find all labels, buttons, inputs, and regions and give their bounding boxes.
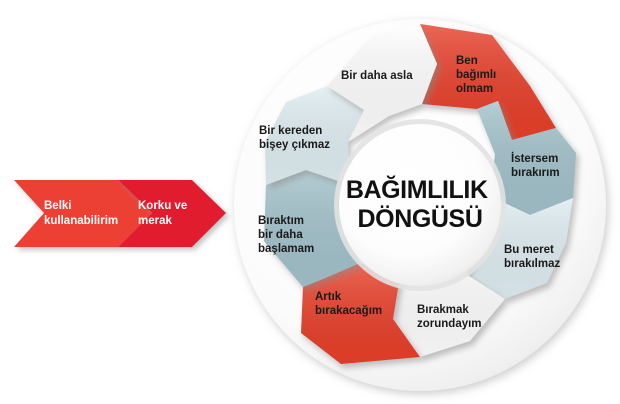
- segment-label: Bıraktım bir daha başlamam: [258, 215, 314, 255]
- diagram-canvas: Ben bağımlı olmam İstersem bırakırım Bu …: [0, 0, 620, 404]
- segment-label: Bir daha asla: [341, 70, 413, 82]
- addiction-cycle-diagram: Ben bağımlı olmam İstersem bırakırım Bu …: [0, 0, 620, 404]
